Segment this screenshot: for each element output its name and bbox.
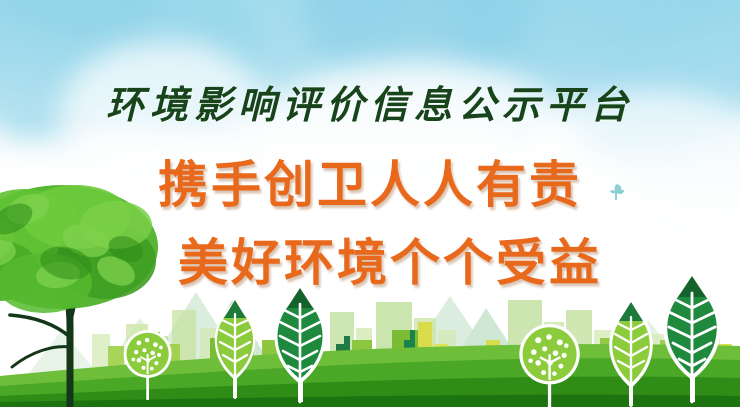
banner-text-block: 环境影响评价信息公示平台 携手创卫人人有责 美好环境个个受益	[0, 0, 740, 295]
slogan-line-2: 美好环境个个受益	[0, 217, 740, 295]
bird-icon	[608, 182, 626, 202]
environmental-banner: 环境影响评价信息公示平台 携手创卫人人有责 美好环境个个受益	[0, 0, 740, 407]
slogan-line-1: 携手创卫人人有责	[0, 129, 740, 217]
page-title: 环境影响评价信息公示平台	[0, 0, 740, 129]
